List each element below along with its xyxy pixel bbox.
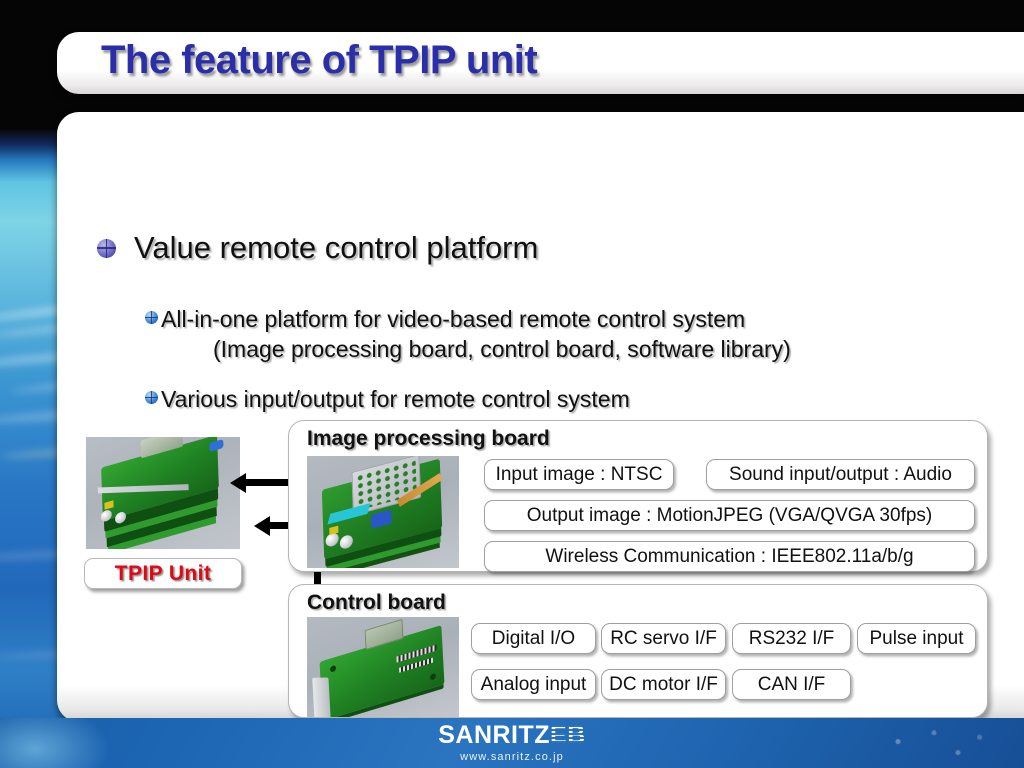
tpip-unit-label: TPIP Unit bbox=[84, 558, 242, 589]
control-board-render bbox=[320, 625, 445, 717]
tpip-unit-photo bbox=[86, 437, 240, 549]
bullet-level2-io: Various input/output for remote control … bbox=[145, 384, 630, 414]
spec-dc-motor[interactable]: DC motor I/F bbox=[601, 669, 726, 700]
globe-bullet-icon bbox=[97, 239, 116, 258]
terminal-block bbox=[365, 619, 404, 650]
control-board-title: Control board bbox=[307, 591, 446, 615]
bullet-line-1: All-in-one platform for video-based remo… bbox=[161, 306, 745, 332]
logo-main-text: SANRITZ bbox=[438, 723, 550, 748]
control-board-photo bbox=[307, 617, 459, 717]
footer-speckles bbox=[874, 724, 994, 768]
rca-jack bbox=[115, 511, 126, 525]
arrow-head bbox=[254, 516, 270, 536]
bullet-level2-text: All-in-one platform for video-based remo… bbox=[161, 304, 791, 365]
blue-connector bbox=[371, 510, 391, 529]
sanritz-logo: SANRITZEB www.sanritz.co.jp bbox=[438, 723, 586, 763]
bullet-level2-label: Various input/output for remote control … bbox=[161, 384, 630, 414]
page-title: The feature of TPIP unit bbox=[101, 38, 537, 83]
mounting-hole bbox=[430, 673, 436, 681]
perforation-pattern bbox=[356, 459, 417, 511]
bullet-level2-allinone: All-in-one platform for video-based remo… bbox=[145, 304, 791, 365]
dsub-connector bbox=[312, 677, 331, 717]
control-board-card: Control board Digital I/O RC servo I/F R… bbox=[288, 584, 988, 718]
footer-band: SANRITZEB www.sanritz.co.jp bbox=[0, 718, 1024, 768]
rca-jack bbox=[340, 534, 353, 550]
logo-suffix-text: EB bbox=[550, 723, 586, 748]
spec-can[interactable]: CAN I/F bbox=[732, 669, 851, 700]
footer-glow bbox=[0, 718, 110, 768]
bullet-line-2: (Image processing board, control board, … bbox=[161, 334, 791, 364]
spec-rc-servo[interactable]: RC servo I/F bbox=[601, 623, 726, 654]
image-board-title: Image processing board bbox=[307, 427, 550, 451]
image-board-render bbox=[322, 459, 442, 560]
spec-wireless-comm[interactable]: Wireless Communication : IEEE802.11a/b/g bbox=[484, 541, 975, 572]
title-bar: The feature of TPIP unit bbox=[57, 32, 1024, 94]
spec-digital-io[interactable]: Digital I/O bbox=[471, 623, 596, 654]
connector-block bbox=[141, 437, 184, 458]
image-board-photo bbox=[307, 456, 459, 568]
slide-root: The feature of TPIP unit Value remote co… bbox=[0, 0, 1024, 768]
bullet-level1-label: Value remote control platform bbox=[134, 230, 538, 266]
spec-sound-io[interactable]: Sound input/output : Audio bbox=[706, 459, 975, 490]
logo-url: www.sanritz.co.jp bbox=[438, 751, 586, 763]
globe-bullet-icon bbox=[145, 311, 158, 324]
mounting-hole bbox=[330, 665, 336, 673]
yellow-component bbox=[104, 500, 113, 509]
spec-input-image[interactable]: Input image : NTSC bbox=[484, 459, 674, 490]
bullet-level1: Value remote control platform bbox=[97, 230, 538, 266]
spec-output-image[interactable]: Output image : MotionJPEG (VGA/QVGA 30fp… bbox=[484, 500, 975, 531]
tpip-unit-render bbox=[101, 437, 219, 521]
rca-jack bbox=[101, 509, 112, 523]
metal-rail bbox=[98, 484, 189, 493]
spec-pulse-input[interactable]: Pulse input bbox=[857, 623, 976, 654]
spec-rs232[interactable]: RS232 I/F bbox=[732, 623, 851, 654]
blue-connector bbox=[209, 439, 223, 452]
image-processing-board-card: Image processing board Input image : NTS… bbox=[288, 420, 988, 572]
tpip-unit-label-text: TPIP Unit bbox=[115, 562, 212, 586]
spec-analog-input[interactable]: Analog input bbox=[471, 669, 596, 700]
globe-bullet-icon bbox=[145, 391, 158, 404]
logo-text-row: SANRITZEB bbox=[438, 723, 586, 748]
cyan-component bbox=[327, 503, 370, 524]
